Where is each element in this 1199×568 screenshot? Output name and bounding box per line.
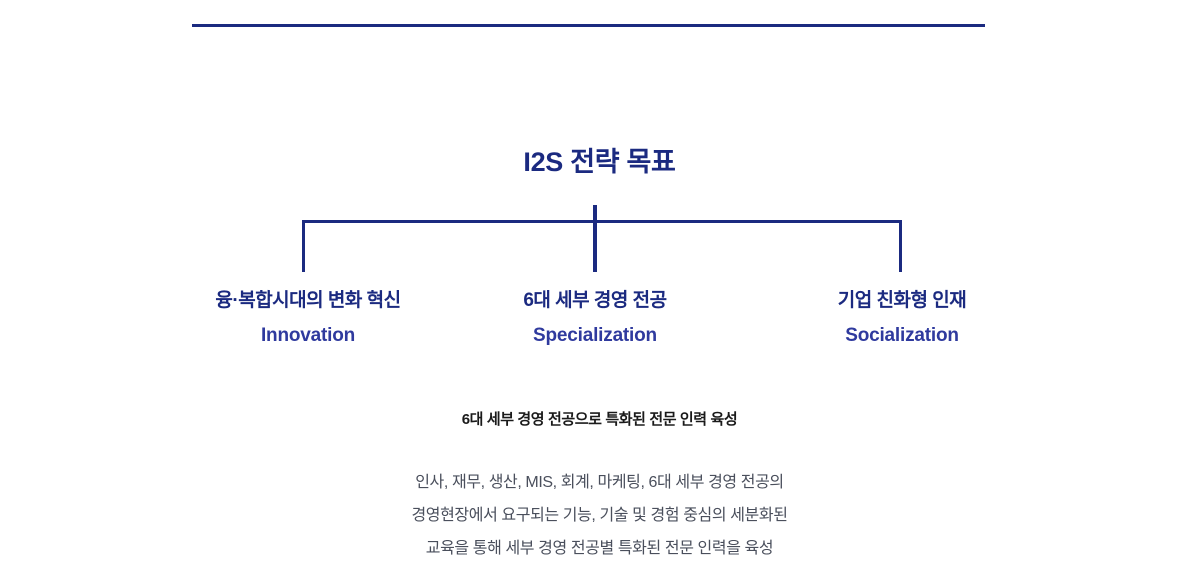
caption-body-line: 인사, 재무, 생산, MIS, 회계, 마케팅, 6대 세부 경영 전공의 — [0, 466, 1199, 499]
top-divider-rule — [192, 24, 985, 27]
branch-label-ko-socialization: 기업 친화형 인재 — [752, 290, 1052, 312]
caption-heading: 6대 세부 경영 전공으로 특화된 전문 인력 육성 — [0, 408, 1199, 429]
branch-item-specialization: 6대 세부 경영 전공 Specialization — [445, 290, 745, 347]
branch-label-en-socialization: Socialization — [752, 325, 1052, 347]
caption-body-line: 교육을 통해 세부 경영 전공별 특화된 전문 인력을 육성 — [0, 532, 1199, 565]
caption-body-line: 경영현장에서 요구되는 기능, 기술 및 경험 중심의 세분화된 — [0, 499, 1199, 532]
branch-label-group: 융·복합시대의 변화 혁신 Innovation 6대 세부 경영 전공 Spe… — [0, 290, 1199, 370]
branch-label-ko-innovation: 융·복합시대의 변화 혁신 — [158, 290, 458, 312]
connector-stem-vertical — [593, 205, 597, 272]
connector-horizontal-bar — [302, 220, 902, 223]
branch-label-ko-specialization: 6대 세부 경영 전공 — [445, 290, 745, 312]
tree-connector — [0, 200, 1199, 280]
branch-label-en-specialization: Specialization — [445, 325, 745, 347]
slide-root: I2S 전략 목표 융·복합시대의 변화 혁신 Innovation 6대 세부… — [0, 0, 1199, 568]
connector-drop-left — [302, 220, 305, 272]
page-title: I2S 전략 목표 — [0, 140, 1199, 179]
branch-label-en-innovation: Innovation — [158, 325, 458, 347]
branch-item-innovation: 융·복합시대의 변화 혁신 Innovation — [158, 290, 458, 347]
caption-body: 인사, 재무, 생산, MIS, 회계, 마케팅, 6대 세부 경영 전공의 경… — [0, 466, 1199, 565]
branch-item-socialization: 기업 친화형 인재 Socialization — [752, 290, 1052, 347]
connector-drop-right — [899, 220, 902, 272]
